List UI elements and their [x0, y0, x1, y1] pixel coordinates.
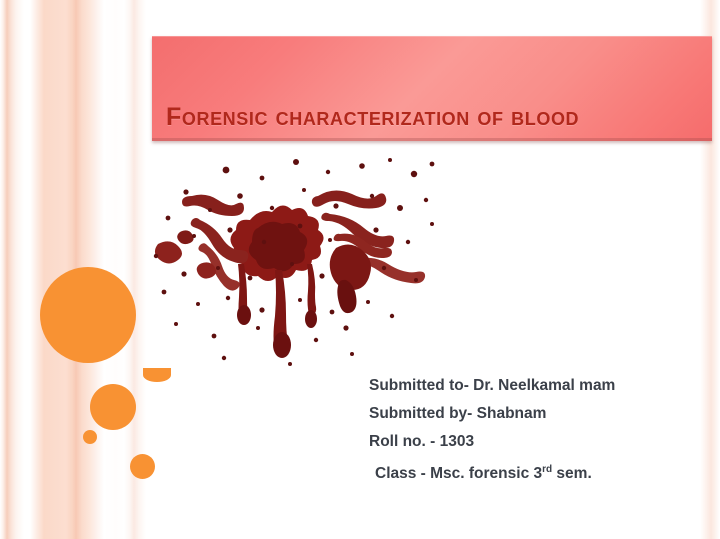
blood-splatter-image — [140, 152, 440, 370]
submitted-to-line: Submitted to- Dr. Neelkamal mam — [369, 372, 689, 400]
decorative-circle-tiny-a — [83, 430, 97, 444]
decorative-circle-half — [143, 368, 171, 382]
class-line: Class - Msc. forensic 3rd sem. — [369, 456, 689, 488]
submission-info-block: Submitted to- Dr. Neelkamal mam Submitte… — [369, 372, 689, 488]
submitted-by-line: Submitted by- Shabnam — [369, 400, 689, 428]
presentation-slide: Forensic characterization of blood — [0, 0, 720, 539]
decorative-circle-large — [40, 267, 136, 363]
decorative-circle-tiny-b — [130, 454, 155, 479]
slide-title-bar: Forensic characterization of blood — [152, 36, 712, 141]
class-line-prefix: Class - Msc. forensic 3 — [375, 465, 542, 482]
class-line-superscript: rd — [542, 464, 552, 475]
roll-number-line: Roll no. - 1303 — [369, 428, 689, 456]
decorative-circle-medium — [90, 384, 136, 430]
class-line-suffix: sem. — [552, 465, 592, 482]
slide-title: Forensic characterization of blood — [166, 103, 579, 132]
